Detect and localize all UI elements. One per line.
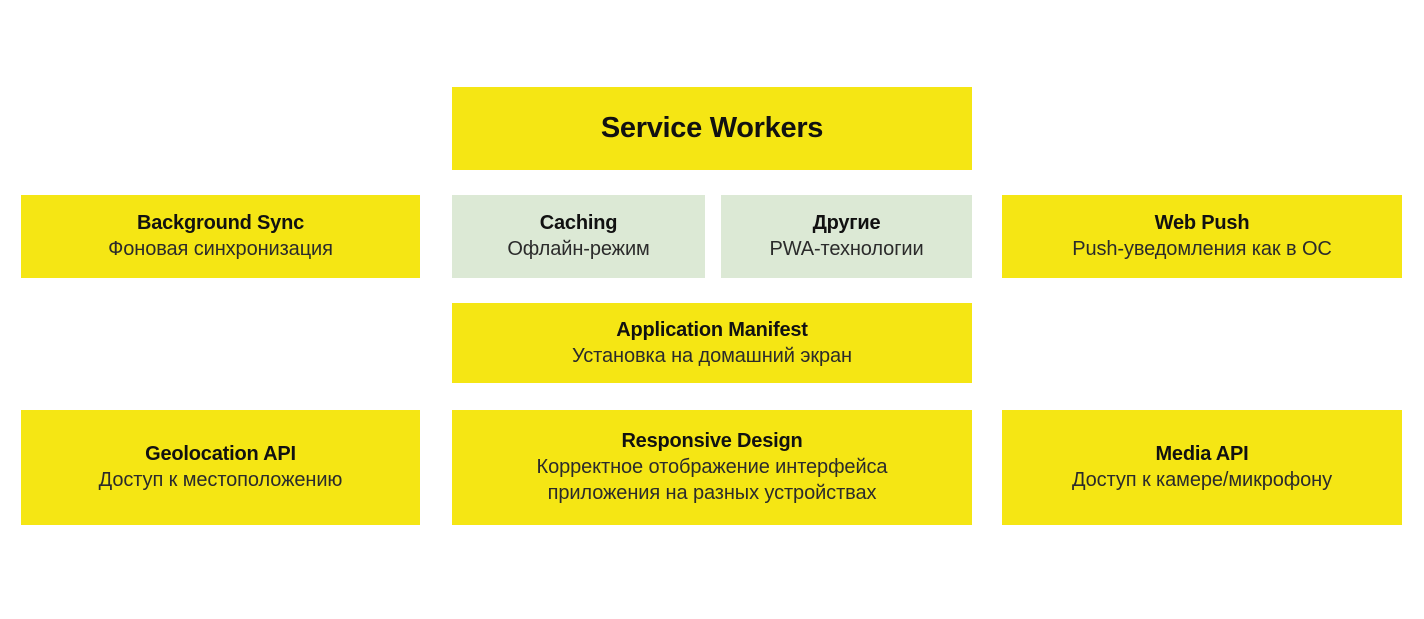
- block-media-api: Media API Доступ к камере/микрофону: [1002, 410, 1402, 525]
- block-subtitle: Доступ к местоположению: [99, 467, 343, 493]
- block-service-workers: Service Workers: [452, 87, 972, 170]
- block-geolocation-api: Geolocation API Доступ к местоположению: [21, 410, 420, 525]
- block-other-pwa-technologies: Другие PWA-технологии: [721, 195, 972, 278]
- block-title: Caching: [540, 211, 618, 236]
- block-subtitle: Push-уведомления как в ОС: [1072, 236, 1332, 262]
- block-title: Service Workers: [601, 110, 823, 146]
- block-title: Background Sync: [137, 211, 304, 236]
- block-application-manifest: Application Manifest Установка на домашн…: [452, 303, 972, 383]
- block-web-push: Web Push Push-уведомления как в ОС: [1002, 195, 1402, 278]
- block-title: Responsive Design: [621, 429, 802, 454]
- block-subtitle: Корректное отображение интерфейса прилож…: [537, 454, 888, 506]
- block-subtitle: Установка на домашний экран: [572, 343, 852, 369]
- block-background-sync: Background Sync Фоновая синхронизация: [21, 195, 420, 278]
- block-title: Web Push: [1155, 211, 1250, 236]
- block-subtitle: Офлайн-режим: [507, 236, 649, 262]
- block-caching: Caching Офлайн-режим: [452, 195, 705, 278]
- block-responsive-design: Responsive Design Корректное отображение…: [452, 410, 972, 525]
- block-title: Другие: [813, 211, 881, 236]
- block-subtitle: Доступ к камере/микрофону: [1072, 467, 1332, 493]
- block-title: Media API: [1155, 442, 1248, 467]
- block-subtitle: PWA-технологии: [769, 236, 923, 262]
- pwa-technologies-diagram: Service Workers Background Sync Фоновая …: [0, 0, 1424, 619]
- block-subtitle: Фоновая синхронизация: [108, 236, 333, 262]
- block-title: Application Manifest: [616, 318, 808, 343]
- block-title: Geolocation API: [145, 442, 296, 467]
